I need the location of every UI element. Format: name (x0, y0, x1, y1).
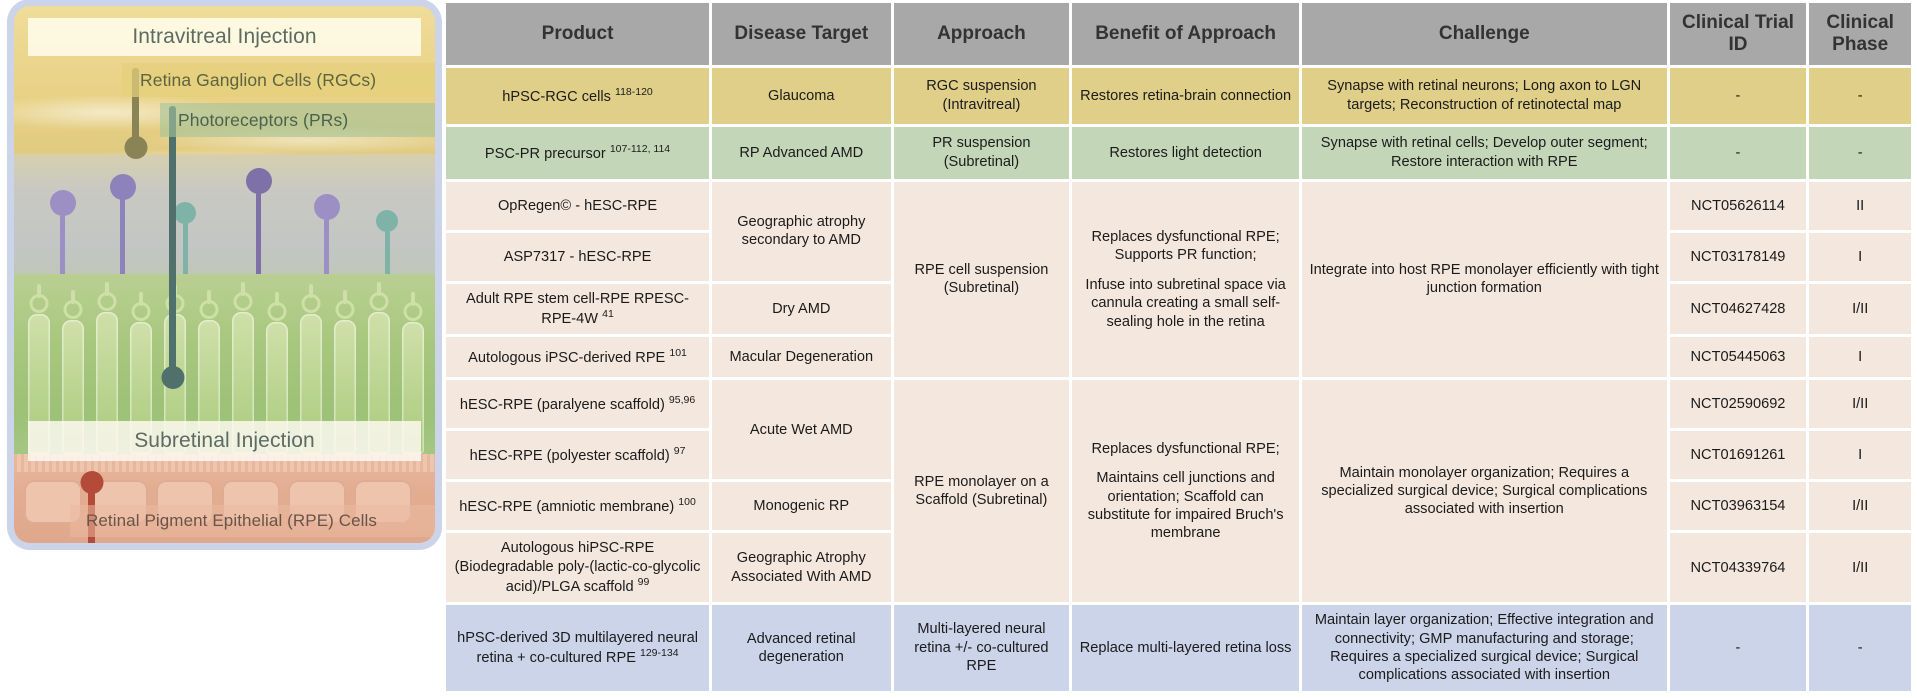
cell-benefit: Restores light detection (1072, 127, 1299, 179)
benefit-part-2: Maintains cell junctions and orientation… (1088, 470, 1284, 541)
cell-approach: PR suspension (Subretinal) (894, 127, 1070, 179)
cell-trial-id: NCT04627428 (1670, 284, 1807, 335)
product-reference: 41 (602, 308, 614, 320)
cell-phase: I (1809, 431, 1911, 479)
product-name: hESC-RPE (polyester scaffold) (470, 448, 670, 464)
benefit-part-2: Infuse into subretinal space via cannula… (1085, 277, 1285, 330)
table-row: OpRegen© - hESC-RPE Geographic atrophy s… (446, 182, 1911, 230)
col-header-product: Product (446, 3, 709, 65)
cell-phase: I/II (1809, 533, 1911, 602)
cell-phase: I/II (1809, 284, 1911, 335)
label-intravitreal-injection: Intravitreal Injection (28, 18, 421, 56)
cell-disease-target: Geographic atrophy secondary to AMD (712, 182, 890, 281)
product-reference: 95,96 (669, 394, 695, 406)
cell-product: hPSC-RGC cells 118-120 (446, 68, 709, 124)
product-name: PSC-PR precursor (485, 145, 606, 161)
cell-product: OpRegen© - hESC-RPE (446, 182, 709, 230)
table-row: hPSC-derived 3D multilayered neural reti… (446, 605, 1911, 691)
label-subretinal-injection: Subretinal Injection (28, 421, 421, 461)
cell-phase: - (1809, 68, 1911, 124)
col-header-approach: Approach (894, 3, 1070, 65)
cell-trial-id: - (1670, 127, 1807, 179)
product-reference: 118-120 (615, 86, 653, 98)
cell-trial-id: NCT01691261 (1670, 431, 1807, 479)
cell-phase: - (1809, 605, 1911, 691)
cell-trial-id: NCT02590692 (1670, 380, 1807, 428)
product-name: hPSC-RGC cells (502, 88, 611, 104)
cell-product: Autologous iPSC-derived RPE 101 (446, 337, 709, 377)
label-retina-ganglion-cells: Retina Ganglion Cells (RGCs) (122, 63, 435, 97)
table-row: PSC-PR precursor 107-112, 114 RP Advance… (446, 127, 1911, 179)
cell-product: hESC-RPE (polyester scaffold) 97 (446, 431, 709, 479)
retina-cross-section: Intravitreal Injection Retina Ganglion C… (14, 6, 435, 543)
cell-disease-target: Macular Degeneration (712, 337, 890, 377)
cell-disease-target: Geographic Atrophy Associated With AMD (712, 533, 890, 602)
benefit-part-1: Replaces dysfunctional RPE; (1092, 441, 1280, 457)
cell-trial-id: NCT05445063 (1670, 337, 1807, 377)
col-header-benefit-of-approach: Benefit of Approach (1072, 3, 1299, 65)
product-reference: 129-134 (640, 647, 679, 659)
cell-disease-target: Acute Wet AMD (712, 380, 890, 479)
cell-product: ASP7317 - hESC-RPE (446, 233, 709, 281)
cell-phase: I (1809, 337, 1911, 377)
cell-benefit: Replace multi-layered retina loss (1072, 605, 1299, 691)
product-reference: 99 (638, 576, 650, 588)
product-reference: 101 (669, 347, 687, 359)
cell-trial-id: NCT03178149 (1670, 233, 1807, 281)
cell-disease-target: Advanced retinal degeneration (712, 605, 890, 691)
label-retinal-pigment-epithelial-cells: Retinal Pigment Epithelial (RPE) Cells (70, 505, 435, 537)
cell-product: hESC-RPE (paralyene scaffold) 95,96 (446, 380, 709, 428)
cell-phase: I (1809, 233, 1911, 281)
cell-product: Autologous hiPSC-RPE (Biodegradable poly… (446, 533, 709, 602)
cell-benefit: Replaces dysfunctional RPE; Maintains ce… (1072, 380, 1299, 602)
benefit-part-1: Replaces dysfunctional RPE; Supports PR … (1092, 229, 1280, 263)
cell-approach: RPE monolayer on a Scaffold (Subretinal) (894, 380, 1070, 602)
cell-approach: RGC suspension (Intravitreal) (894, 68, 1070, 124)
col-header-disease-target: Disease Target (712, 3, 890, 65)
benefit-spacer (1079, 458, 1292, 469)
label-photoreceptors: Photoreceptors (PRs) (160, 103, 435, 137)
cell-phase: I/II (1809, 380, 1911, 428)
cell-trial-id: NCT05626114 (1670, 182, 1807, 230)
product-name: Adult RPE stem cell-RPE RPESC-RPE-4W (466, 291, 689, 327)
product-name: Autologous iPSC-derived RPE (468, 350, 665, 366)
cell-phase: - (1809, 127, 1911, 179)
cell-trial-id: NCT04339764 (1670, 533, 1807, 602)
cell-challenge: Maintain layer organization; Effective i… (1302, 605, 1667, 691)
cell-challenge: Maintain monolayer organization; Require… (1302, 380, 1667, 602)
table-row: hPSC-RGC cells 118-120 Glaucoma RGC susp… (446, 68, 1911, 124)
cell-trial-id: - (1670, 68, 1807, 124)
cell-challenge: Integrate into host RPE monolayer effici… (1302, 182, 1667, 378)
product-name: hESC-RPE (amniotic membrane) (459, 499, 674, 515)
cell-benefit: Replaces dysfunctional RPE; Supports PR … (1072, 182, 1299, 378)
cell-phase: II (1809, 182, 1911, 230)
table-row: hESC-RPE (paralyene scaffold) 95,96 Acut… (446, 380, 1911, 428)
inner-retina-layer (14, 154, 435, 294)
product-reference: 107-112, 114 (610, 143, 670, 155)
cell-disease-target: Dry AMD (712, 284, 890, 335)
cell-challenge: Synapse with retinal cells; Develop oute… (1302, 127, 1667, 179)
cell-challenge: Synapse with retinal neurons; Long axon … (1302, 68, 1667, 124)
cell-trial-id: - (1670, 605, 1807, 691)
cell-approach: Multi-layered neural retina +/- co-cultu… (894, 605, 1070, 691)
product-reference: 97 (674, 445, 686, 457)
product-reference: 100 (678, 496, 696, 508)
cell-phase: I/II (1809, 482, 1911, 530)
cell-disease-target: RP Advanced AMD (712, 127, 890, 179)
cell-benefit: Restores retina-brain connection (1072, 68, 1299, 124)
therapy-comparison-table: Product Disease Target Approach Benefit … (443, 0, 1914, 694)
retina-illustration-panel: Intravitreal Injection Retina Ganglion C… (0, 0, 443, 549)
cell-approach: RPE cell suspension (Subretinal) (894, 182, 1070, 378)
therapy-comparison-table-wrap: Product Disease Target Approach Benefit … (443, 0, 1917, 694)
col-header-clinical-phase: Clinical Phase (1809, 3, 1911, 65)
cell-disease-target: Monogenic RP (712, 482, 890, 530)
cell-disease-target: Glaucoma (712, 68, 890, 124)
col-header-challenge: Challenge (1302, 3, 1667, 65)
cell-product: hPSC-derived 3D multilayered neural reti… (446, 605, 709, 691)
figure-root: Intravitreal Injection Retina Ganglion C… (0, 0, 1917, 698)
product-name: hESC-RPE (paralyene scaffold) (460, 397, 665, 413)
cell-product: Adult RPE stem cell-RPE RPESC-RPE-4W 41 (446, 284, 709, 335)
col-header-clinical-trial-id: Clinical Trial ID (1670, 3, 1807, 65)
product-name: Autologous hiPSC-RPE (Biodegradable poly… (455, 540, 701, 595)
cell-product: hESC-RPE (amniotic membrane) 100 (446, 482, 709, 530)
table-header-row: Product Disease Target Approach Benefit … (446, 3, 1911, 65)
cell-product: PSC-PR precursor 107-112, 114 (446, 127, 709, 179)
cell-trial-id: NCT03963154 (1670, 482, 1807, 530)
benefit-spacer (1079, 265, 1292, 276)
subretinal-needle-pr (169, 106, 176, 376)
